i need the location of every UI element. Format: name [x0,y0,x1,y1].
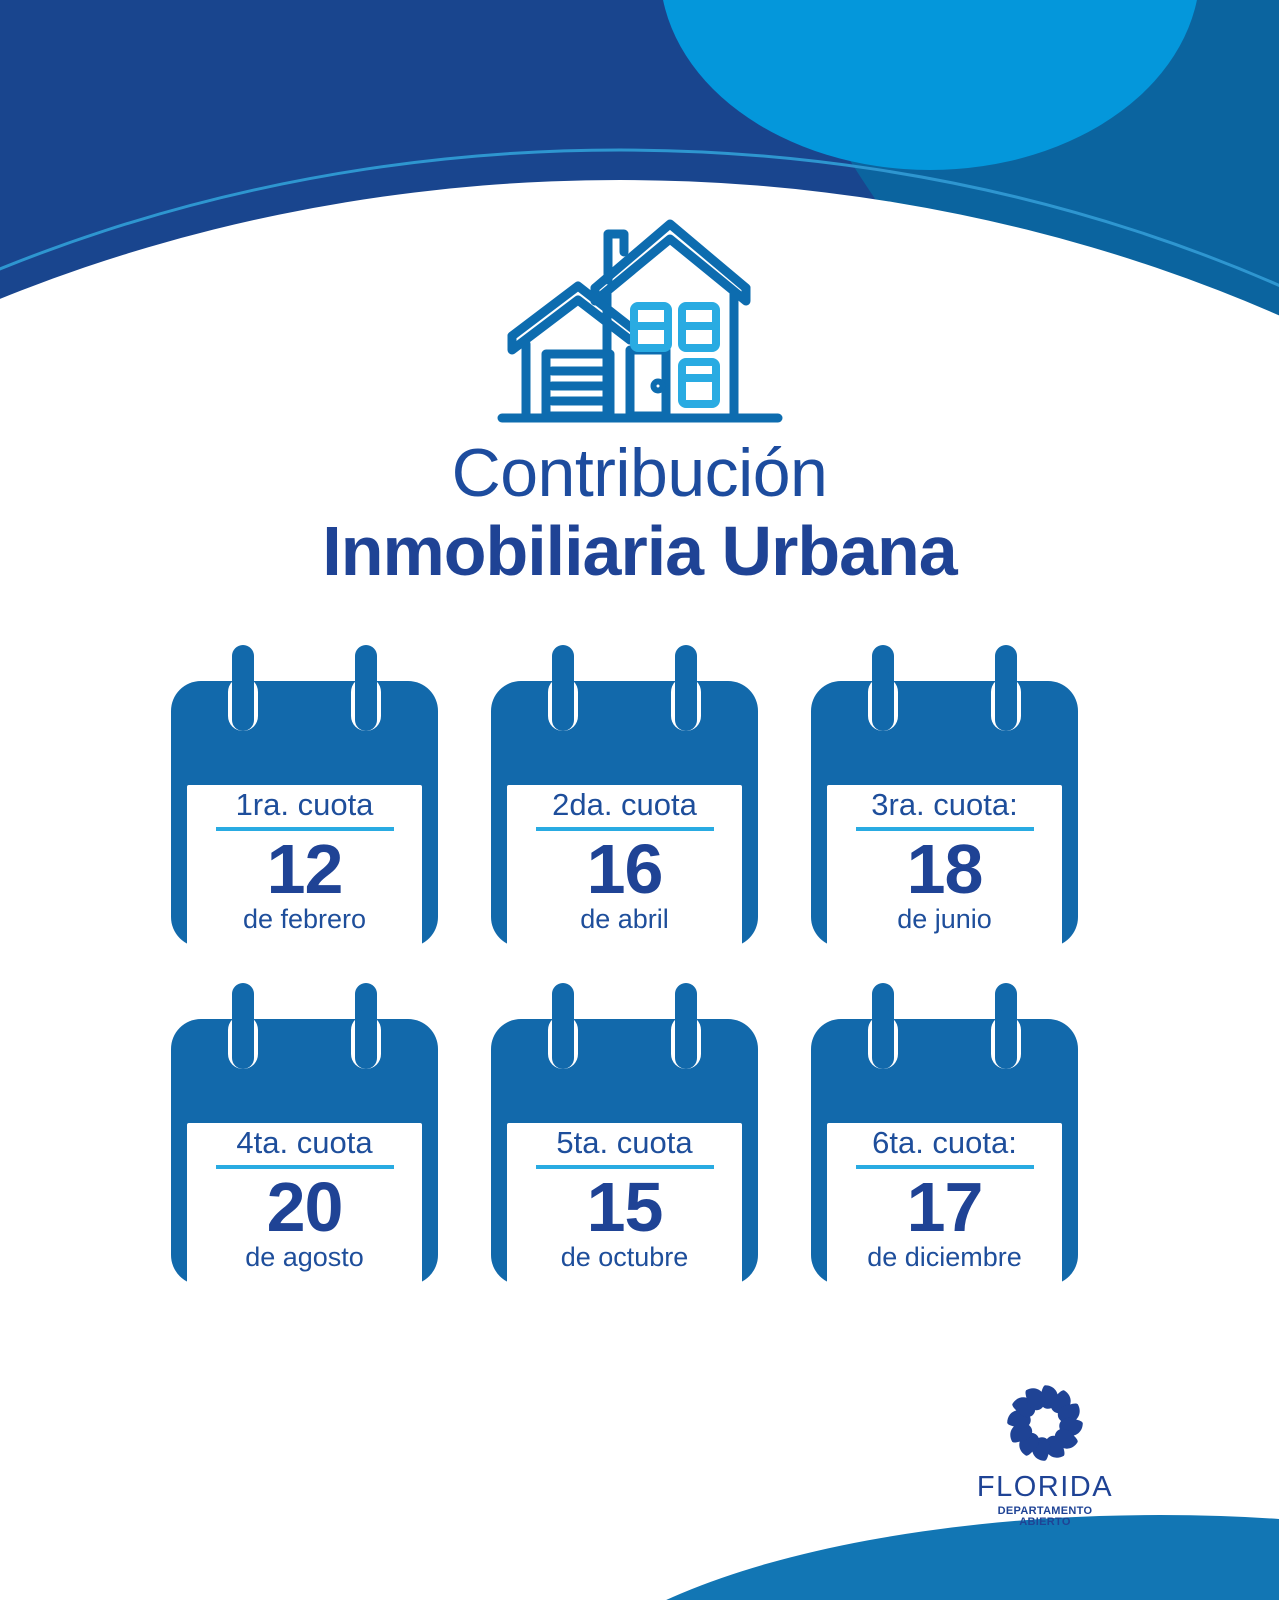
installment-card-1[interactable]: 1ra. cuota 12 de febrero [171,645,438,947]
calendar-body: 1ra. cuota 12 de febrero [171,681,438,947]
calendar-ring-stub-right [355,1009,377,1069]
calendar-ring-stub-left [872,671,894,731]
calendar-ring-stub-right [675,671,697,731]
calendar-sheet: 6ta. cuota: 17 de diciembre [827,1123,1062,1305]
installment-month: de octubre [561,1244,689,1271]
installment-label: 2da. cuota [552,789,697,820]
installment-card-3[interactable]: 3ra. cuota: 18 de junio [811,645,1078,947]
calendar-body: 4ta. cuota 20 de agosto [171,1019,438,1285]
logo-name: FLORIDA [975,1473,1115,1502]
installment-card-5[interactable]: 5ta. cuota 15 de octubre [491,983,758,1285]
calendar-sheet: 4ta. cuota 20 de agosto [187,1123,422,1305]
installment-month: de abril [580,906,669,933]
calendar-ring-stub-right [675,1009,697,1069]
calendar-sheet: 5ta. cuota 15 de octubre [507,1123,742,1305]
installment-day: 20 [267,1173,343,1242]
calendar-ring-stub-left [232,671,254,731]
installment-month: de junio [897,906,992,933]
calendar-ring-stub-right [355,671,377,731]
calendar-sheet: 2da. cuota 16 de abril [507,785,742,967]
installment-label: 6ta. cuota: [872,1127,1017,1158]
calendar-ring-stub-right [995,671,1017,731]
calendar-ring-stub-left [552,671,574,731]
poster-canvas: Contribución Inmobiliaria Urbana 1ra. cu… [0,0,1279,1600]
installment-label: 4ta. cuota [236,1127,372,1158]
florida-logo: FLORIDA DEPARTAMENTO ABIERTO [975,1378,1115,1528]
installment-card-4[interactable]: 4ta. cuota 20 de agosto [171,983,438,1285]
installment-day: 18 [907,835,983,904]
installments-grid: 1ra. cuota 12 de febrero 2da. cuota 16 [171,645,1111,1285]
calendar-sheet: 1ra. cuota 12 de febrero [187,785,422,967]
calendar-sheet: 3ra. cuota: 18 de junio [827,785,1062,967]
title-line-1: Contribución [0,438,1279,509]
house-icon [490,214,790,430]
calendar-ring-stub-left [552,1009,574,1069]
calendar-ring-stub-left [232,1009,254,1069]
installment-day: 16 [587,835,663,904]
installment-day: 15 [587,1173,663,1242]
installment-month: de diciembre [867,1244,1022,1271]
installment-day: 12 [267,835,343,904]
installment-month: de febrero [243,906,366,933]
calendar-body: 6ta. cuota: 17 de diciembre [811,1019,1078,1285]
calendar-ring-stub-left [872,1009,894,1069]
calendar-body: 3ra. cuota: 18 de junio [811,681,1078,947]
installment-label: 3ra. cuota: [871,789,1017,820]
page-title: Contribución Inmobiliaria Urbana [0,438,1279,590]
sunburst-swirl-icon [1000,1378,1090,1468]
installment-card-6[interactable]: 6ta. cuota: 17 de diciembre [811,983,1078,1285]
installment-month: de agosto [245,1244,364,1271]
installment-day: 17 [907,1173,983,1242]
installment-label: 5ta. cuota [556,1127,692,1158]
installment-label: 1ra. cuota [236,789,374,820]
calendar-body: 2da. cuota 16 de abril [491,681,758,947]
title-line-2: Inmobiliaria Urbana [0,513,1279,590]
installment-card-2[interactable]: 2da. cuota 16 de abril [491,645,758,947]
logo-tagline: DEPARTAMENTO ABIERTO [975,1506,1115,1528]
calendar-body: 5ta. cuota 15 de octubre [491,1019,758,1285]
calendar-ring-stub-right [995,1009,1017,1069]
